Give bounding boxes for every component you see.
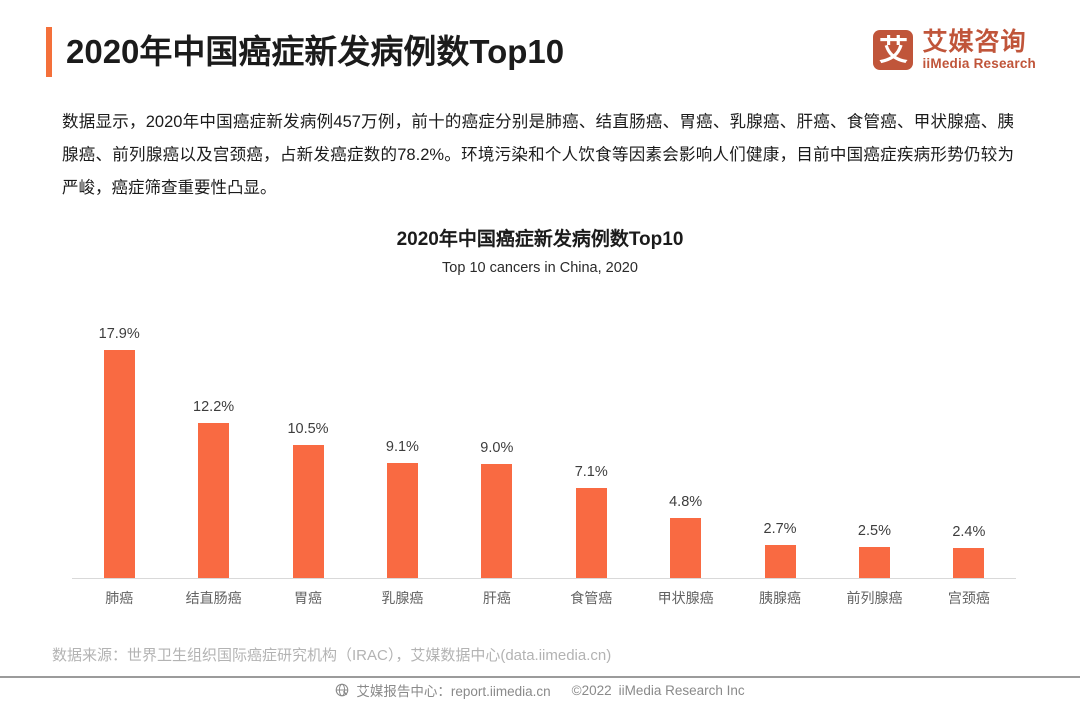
x-axis-line [72,578,1016,579]
footer-copyright: ©2022 [572,683,612,698]
logo-badge-icon: 艾 [873,30,913,70]
bar-item[interactable]: 9.1% [355,291,449,579]
x-axis-tick-label: 胰腺癌 [733,588,827,608]
bar-value-label: 17.9% [99,325,140,343]
slide-page: 2020年中国癌症新发病例数Top10 艾 艾媒咨询 iiMedia Resea… [0,0,1080,702]
logo-name-en: iiMedia Research [922,56,1036,72]
x-axis-tick-label: 肝癌 [450,588,544,608]
x-axis-tick-label: 宫颈癌 [922,588,1016,608]
bar-rect[interactable] [953,548,984,579]
bar-item[interactable]: 2.4% [922,291,1016,579]
bar-value-label: 10.5% [287,420,328,438]
chart-container: 2020年中国癌症新发病例数Top10 Top 10 cancers in Ch… [0,226,1080,631]
bar-item[interactable]: 2.5% [827,291,921,579]
bar-rect[interactable] [387,463,418,579]
brand-logo: 艾 艾媒咨询 iiMedia Research [873,24,1036,76]
bar-item[interactable]: 10.5% [261,291,355,579]
bar-value-label: 9.0% [480,439,513,457]
x-axis-tick-label: 甲状腺癌 [638,588,732,608]
bar-item[interactable]: 2.7% [733,291,827,579]
x-axis-tick-label: 食管癌 [544,588,638,608]
bar-value-label: 2.4% [952,523,985,541]
footer-bar: 艾媒报告中心：report.iimedia.cn ©2022 iiMedia R… [0,678,1080,702]
bar-item[interactable]: 4.8% [638,291,732,579]
bar-rect[interactable] [859,547,890,579]
x-axis-tick-label: 肺癌 [72,588,166,608]
x-axis-tick-label: 乳腺癌 [355,588,449,608]
footer-report-center[interactable]: 艾媒报告中心：report.iimedia.cn [356,680,550,700]
lede-paragraph: 数据显示，2020年中国癌症新发病例457万例，前十的癌症分别是肺癌、结直肠癌、… [62,106,1014,205]
chart-plot-area: 17.9%12.2%10.5%9.1%9.0%7.1%4.8%2.7%2.5%2… [72,291,1016,579]
chart-title: 2020年中国癌症新发病例数Top10 [0,226,1080,253]
bar-item[interactable]: 17.9% [72,291,166,579]
bar-value-label: 2.7% [764,520,797,538]
bar-series: 17.9%12.2%10.5%9.1%9.0%7.1%4.8%2.7%2.5%2… [72,291,1016,579]
header: 2020年中国癌症新发病例数Top10 艾 艾媒咨询 iiMedia Resea… [0,0,1080,92]
bar-item[interactable]: 9.0% [450,291,544,579]
bar-rect[interactable] [765,545,796,580]
x-axis-tick-label: 结直肠癌 [166,588,260,608]
bar-value-label: 4.8% [669,493,702,511]
bar-rect[interactable] [198,423,229,579]
bar-rect[interactable] [104,350,135,579]
logo-name-cn: 艾媒咨询 [922,28,1036,56]
bar-value-label: 7.1% [575,463,608,481]
footer-company: iiMedia Research Inc [619,683,745,698]
x-axis-tick-label: 胃癌 [261,588,355,608]
bar-rect[interactable] [576,488,607,579]
globe-icon [335,683,349,697]
bar-rect[interactable] [293,445,324,579]
source-note: 数据来源：世界卫生组织国际癌症研究机构（IRAC），艾媒数据中心(data.ii… [52,645,611,667]
bar-value-label: 12.2% [193,398,234,416]
bar-value-label: 9.1% [386,438,419,456]
logo-text: 艾媒咨询 iiMedia Research [922,28,1036,72]
bar-rect[interactable] [481,464,512,579]
bar-rect[interactable] [670,518,701,579]
x-axis-tick-labels: 肺癌结直肠癌胃癌乳腺癌肝癌食管癌甲状腺癌胰腺癌前列腺癌宫颈癌 [72,588,1016,608]
x-axis-tick-label: 前列腺癌 [827,588,921,608]
title-accent-bar [46,27,52,77]
bar-item[interactable]: 7.1% [544,291,638,579]
bar-value-label: 2.5% [858,522,891,540]
chart-subtitle: Top 10 cancers in China, 2020 [0,256,1080,280]
page-title: 2020年中国癌症新发病例数Top10 [66,28,564,76]
bar-item[interactable]: 12.2% [166,291,260,579]
